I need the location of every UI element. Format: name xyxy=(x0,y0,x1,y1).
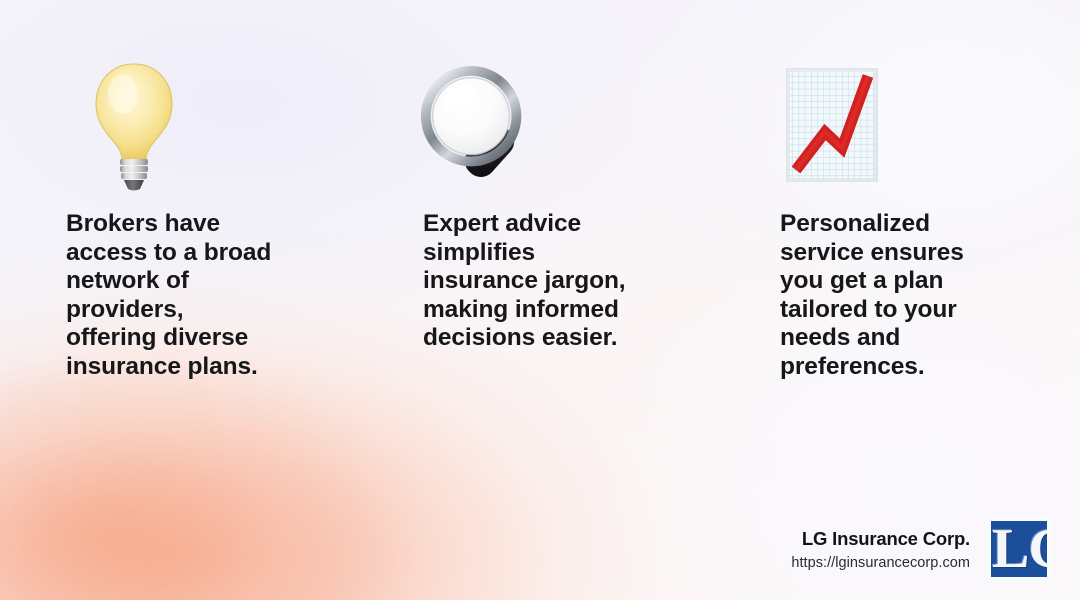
feature-text-3: Personalized service ensures you get a p… xyxy=(780,210,1072,382)
feature-text-1: Brokers have access to a broad network o… xyxy=(66,210,358,382)
logo-letters: LG xyxy=(992,521,1047,577)
company-website-url[interactable]: https://lginsurancecorp.com xyxy=(791,555,970,571)
slide-content: Brokers have access to a broad network o… xyxy=(0,0,1080,600)
logo-square: LG xyxy=(991,521,1047,577)
brand-footer: LG Insurance Corp. https://lginsuranceco… xyxy=(791,516,1052,582)
company-name: LG Insurance Corp. xyxy=(802,528,970,550)
chart-increasing-icon xyxy=(768,58,896,194)
magnifying-glass-icon xyxy=(414,58,542,194)
light-bulb-icon xyxy=(70,58,198,194)
brand-text-block: LG Insurance Corp. https://lginsuranceco… xyxy=(791,528,970,571)
company-logo[interactable]: LG xyxy=(986,516,1052,582)
feature-text-2: Expert advice simplifies insurance jargo… xyxy=(423,210,715,353)
infographic-slide: Brokers have access to a broad network o… xyxy=(0,0,1080,600)
feature-columns: Brokers have access to a broad network o… xyxy=(0,0,1080,400)
